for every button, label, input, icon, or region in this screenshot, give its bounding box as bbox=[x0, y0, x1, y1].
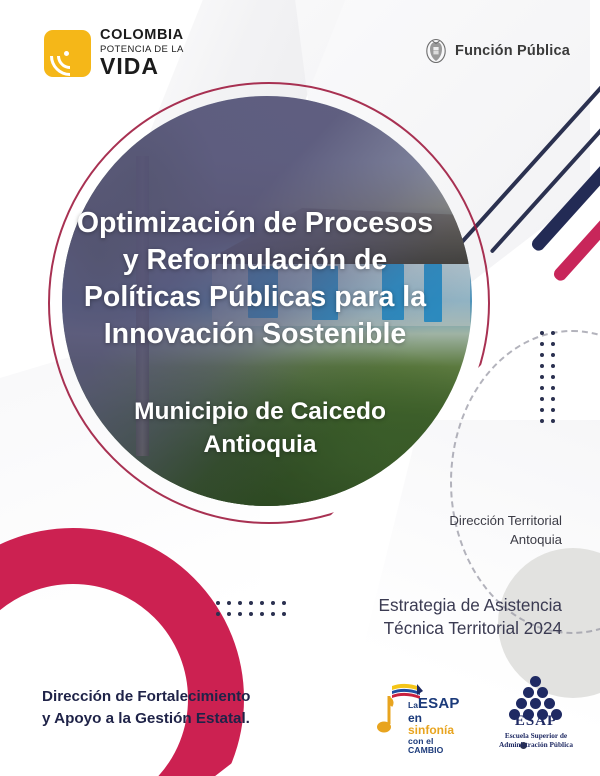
title-line-3: Políticas Públicas para la bbox=[40, 279, 470, 316]
dot bbox=[551, 331, 555, 335]
dot bbox=[249, 612, 253, 616]
dot bbox=[227, 612, 231, 616]
seal-sub-line-2: Administración Pública bbox=[486, 740, 586, 749]
colombia-coat-of-arms-icon bbox=[425, 38, 447, 64]
dot bbox=[282, 601, 286, 605]
esap-sinfonia-text: LaESAP en sinfonía con el CAMBIO bbox=[408, 696, 470, 755]
esap-seal-subtitle: Escuela Superior de Administración Públi… bbox=[486, 731, 586, 749]
funcion-publica-label: Función Pública bbox=[455, 43, 570, 59]
pyramid-dot bbox=[530, 698, 541, 709]
crimson-arc-decoration bbox=[0, 528, 244, 776]
seal-sub-line-1: Escuela Superior de bbox=[486, 731, 586, 740]
pyramid-dot bbox=[544, 698, 555, 709]
dot bbox=[540, 331, 544, 335]
pyramid-dot bbox=[530, 676, 541, 687]
colombia-line-1: COLOMBIA bbox=[100, 28, 184, 43]
strategy-line-1: Estrategia de Asistencia bbox=[300, 594, 562, 617]
dot bbox=[282, 612, 286, 616]
page-title: Optimización de Procesos y Reformulación… bbox=[40, 205, 470, 353]
dot bbox=[551, 353, 555, 357]
dot bbox=[551, 364, 555, 368]
dot bbox=[260, 612, 264, 616]
colombia-logo-text: COLOMBIA POTENCIA DE LA VIDA bbox=[100, 28, 184, 78]
sinfonia-line-3: con el CAMBIO bbox=[408, 737, 470, 755]
dot bbox=[551, 408, 555, 412]
dot bbox=[271, 612, 275, 616]
dot bbox=[249, 601, 253, 605]
dot bbox=[238, 612, 242, 616]
dot bbox=[227, 601, 231, 605]
dot bbox=[551, 375, 555, 379]
dot-grid-vertical bbox=[540, 331, 555, 423]
direction-line-2: y Apoyo a la Gestión Estatal. bbox=[42, 708, 250, 730]
strategy-text: Estrategia de Asistencia Técnica Territo… bbox=[300, 594, 562, 641]
dot bbox=[540, 353, 544, 357]
pyramid-dot bbox=[523, 687, 534, 698]
direction-line-1: Dirección de Fortalecimiento bbox=[42, 686, 250, 708]
pyramid-dot bbox=[551, 709, 562, 720]
funcion-publica-logo: Función Pública bbox=[425, 38, 570, 64]
subtitle-line-2: Antioquia bbox=[60, 429, 460, 462]
title-line-4: Innovación Sostenible bbox=[40, 316, 470, 353]
strategy-line-2: Técnica Territorial 2024 bbox=[300, 617, 562, 640]
dot bbox=[551, 397, 555, 401]
dot bbox=[540, 342, 544, 346]
esap-seal-logo: ESAP Escuela Superior de Administración … bbox=[486, 676, 586, 740]
title-line-1: Optimización de Procesos bbox=[40, 205, 470, 242]
dot bbox=[216, 612, 220, 616]
dot bbox=[216, 601, 220, 605]
footer-direction-text: Dirección de Fortalecimiento y Apoyo a l… bbox=[42, 686, 250, 729]
pyramid-dot bbox=[509, 709, 520, 720]
esap-sinfonia-logo: LaESAP en sinfonía con el CAMBIO bbox=[372, 682, 470, 738]
territorial-line-2: Antoquia bbox=[330, 531, 562, 550]
dot bbox=[260, 601, 264, 605]
wave-center-dot bbox=[64, 51, 69, 56]
sinfonia-line-1: LaESAP bbox=[408, 696, 470, 712]
dot bbox=[540, 419, 544, 423]
dot bbox=[551, 386, 555, 390]
dot bbox=[540, 364, 544, 368]
cover-page: COLOMBIA POTENCIA DE LA VIDA Función Púb… bbox=[0, 0, 600, 776]
colombia-waves-icon bbox=[44, 30, 91, 77]
sinfonia-esap: ESAP bbox=[418, 695, 460, 712]
pyramid-dot bbox=[516, 698, 527, 709]
dot bbox=[551, 342, 555, 346]
pyramid-dot bbox=[537, 709, 548, 720]
dot-grid-horizontal bbox=[216, 601, 286, 616]
dot bbox=[238, 601, 242, 605]
subtitle-line-1: Municipio de Caicedo bbox=[60, 396, 460, 429]
colombia-line-3: VIDA bbox=[100, 55, 184, 78]
dot bbox=[551, 419, 555, 423]
pyramid-dot bbox=[537, 687, 548, 698]
dashed-circle-decoration bbox=[450, 330, 600, 634]
territorial-direction: Dirección Territorial Antoquia bbox=[330, 512, 562, 549]
dot bbox=[540, 408, 544, 412]
sinfonia-line-2: en sinfonía bbox=[408, 712, 470, 737]
esap-pyramid-icon bbox=[486, 676, 586, 716]
title-line-2: y Reformulación de bbox=[40, 242, 470, 279]
dot bbox=[540, 386, 544, 390]
dot bbox=[540, 375, 544, 379]
territorial-line-1: Dirección Territorial bbox=[330, 512, 562, 531]
pyramid-dot bbox=[523, 709, 534, 720]
colombia-logo: COLOMBIA POTENCIA DE LA VIDA bbox=[44, 28, 184, 78]
page-subtitle: Municipio de Caicedo Antioquia bbox=[60, 396, 460, 462]
dot bbox=[540, 397, 544, 401]
dot bbox=[271, 601, 275, 605]
sinfonia-la: La bbox=[408, 700, 418, 710]
